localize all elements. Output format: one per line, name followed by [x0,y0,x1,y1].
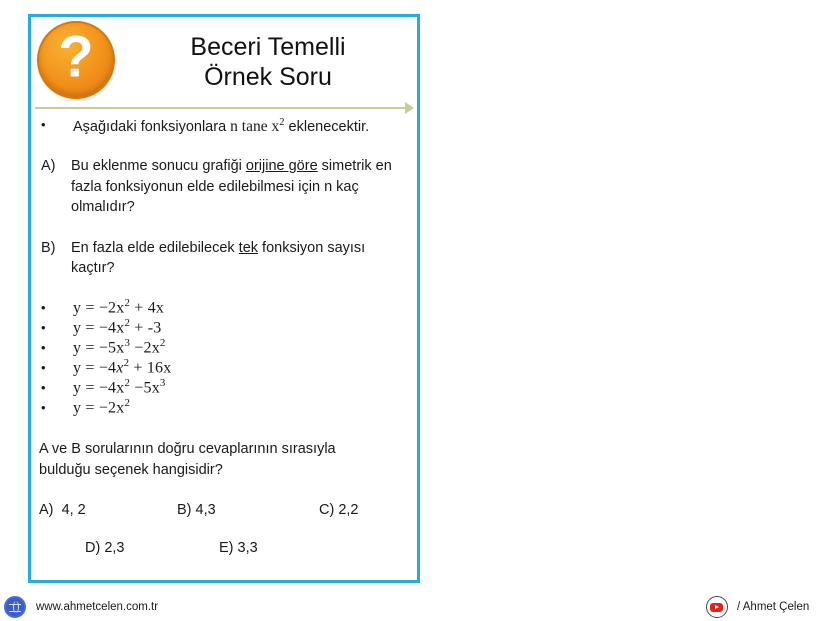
title-line-2: Örnek Soru [123,63,413,93]
option-d-value: 2,3 [104,540,124,556]
page-title: Beceri Temelli Örnek Soru [123,33,413,92]
list-item: • y = −2x2 [41,397,417,417]
intro-math-base: n tane x [230,118,279,135]
question-a-text: Bu eklenme sonucu grafiği orijine göre s… [71,156,417,218]
question-b-label: B) [41,238,71,279]
equation-text: y = −4x2 + -3 [73,317,161,337]
bullet-icon: • [41,320,73,335]
option-b-key: B) [177,502,192,518]
question-a-part1: Bu eklenme sonucu grafiği [71,158,246,174]
final-question: A ve B sorularının doğru cevaplarının sı… [31,439,389,480]
intro-text-after: eklenecektir. [285,119,370,135]
bullet-icon: • [41,300,73,315]
footer-website-text: www.ahmetcelen.com.tr [36,601,158,613]
slide-header: ? Beceri Temelli Örnek Soru [31,17,417,97]
question-a: A) Bu eklenme sonucu grafiği orijine gör… [31,156,417,218]
option-c-key: C) [319,502,334,518]
option-c-value: 2,2 [338,502,358,518]
option-d-key: D) [85,540,100,556]
question-b-underlined: tek [239,240,258,256]
option-e-key: E) [219,540,234,556]
options-row-2: D) 2,3 E) 3,3 [31,540,417,562]
option-a-key: A) [39,502,54,518]
equation-text: y = −2x2 + 4x [73,297,164,317]
question-a-underlined: orijine göre [246,158,318,174]
question-b-part1: En fazla elde edilebilecek [71,240,239,256]
bullet-icon: • [41,400,73,415]
option-b-value: 4,3 [196,502,216,518]
equation-text: y = −4x2 + 16x [73,357,171,377]
question-a-label: A) [41,156,71,218]
equation-list: • y = −2x2 + 4x • y = −4x2 + -3 • y = −5… [31,297,417,417]
option-b[interactable]: B) 4,3 [177,502,216,518]
option-e-value: 3,3 [238,540,258,556]
slide-body: Aşağıdaki fonksiyonlara n tane x2 eklene… [31,109,417,562]
equation-text: y = −4x2 −5x3 [73,377,166,397]
option-a[interactable]: A) 4, 2 [39,502,86,518]
footer: www.ahmetcelen.com.tr / Ahmet Çelen [0,592,828,621]
globe-logo-icon [4,596,26,618]
options-row-1: A) 4, 2 B) 4,3 C) 2,2 [31,502,417,524]
option-a-value: 4, 2 [62,502,86,518]
intro-text-before: Aşağıdaki fonksiyonlara [73,119,230,135]
intro-math: n tane x2 [230,118,284,135]
list-item: • y = −2x2 + 4x [41,297,417,317]
list-item: • y = −4x2 + 16x [41,357,417,377]
option-c[interactable]: C) 2,2 [319,502,359,518]
equation-text: y = −2x2 [73,397,130,417]
list-item: • y = −5x3 −2x2 [41,337,417,357]
equation-text: y = −5x3 −2x2 [73,337,166,357]
title-line-1: Beceri Temelli [123,33,413,63]
list-item: • y = −4x2 −5x3 [41,377,417,397]
footer-channel-text: / Ahmet Çelen [737,601,809,613]
bullet-icon: • [41,340,73,355]
footer-channel-block[interactable]: / Ahmet Çelen [706,592,809,621]
footer-website-block[interactable]: www.ahmetcelen.com.tr [4,592,158,621]
slide-card: ? Beceri Temelli Örnek Soru Aşağıdaki fo… [28,14,420,583]
question-mark-glyph: ? [39,29,113,87]
bullet-icon: • [41,360,73,375]
bullet-icon: • [41,380,73,395]
question-b-text: En fazla elde edilebilecek tek fonksiyon… [71,238,417,279]
youtube-icon [706,596,728,618]
youtube-play-triangle [715,605,719,609]
option-e[interactable]: E) 3,3 [219,540,258,556]
bullet-icon [41,117,73,133]
question-b: B) En fazla elde edilebilecek tek fonksi… [31,238,417,279]
intro-statement: Aşağıdaki fonksiyonlara n tane x2 eklene… [31,117,417,136]
list-item: • y = −4x2 + -3 [41,317,417,337]
question-mark-icon: ? [37,21,115,99]
option-d[interactable]: D) 2,3 [85,540,125,556]
